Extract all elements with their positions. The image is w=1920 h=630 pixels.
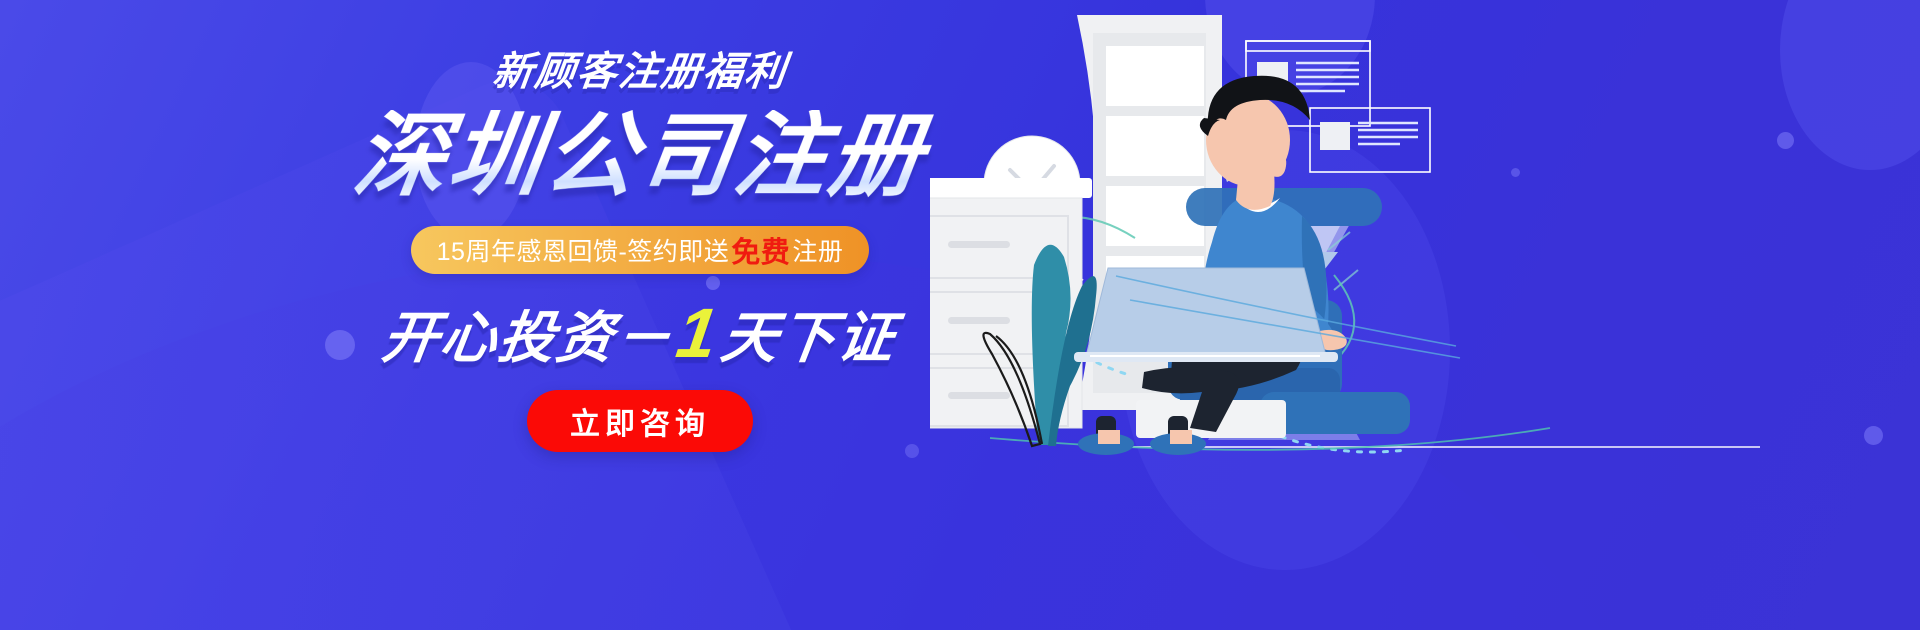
offer-badge-prefix: 15周年感恩回馈-签约即送 [437,232,730,268]
offer-badge-highlight: 免费 [729,229,792,271]
consult-now-button[interactable]: 立即咨询 [527,390,753,452]
offer-badge: 15周年感恩回馈-签约即送 免费 注册 [411,226,870,274]
promo-copy-block: 新顾客注册福利 深圳公司注册 15周年感恩回馈-签约即送 免费 注册 开心投资－… [330,52,950,452]
sub-headline: 开心投资－ 1 天下证 [325,298,955,368]
offer-badge-suffix: 注册 [792,232,843,268]
consult-now-label: 立即咨询 [570,399,710,443]
sub-headline-prefix: 开心投资－ [379,310,677,366]
office-illustration [930,0,1920,630]
eyebrow-text: 新顾客注册福利 [328,52,953,92]
promo-banner: 新顾客注册福利 深圳公司注册 15周年感恩回馈-签约即送 免费 注册 开心投资－… [0,0,1920,630]
page-title: 深圳公司注册 [323,110,956,204]
sub-headline-suffix: 天下证 [718,310,900,366]
